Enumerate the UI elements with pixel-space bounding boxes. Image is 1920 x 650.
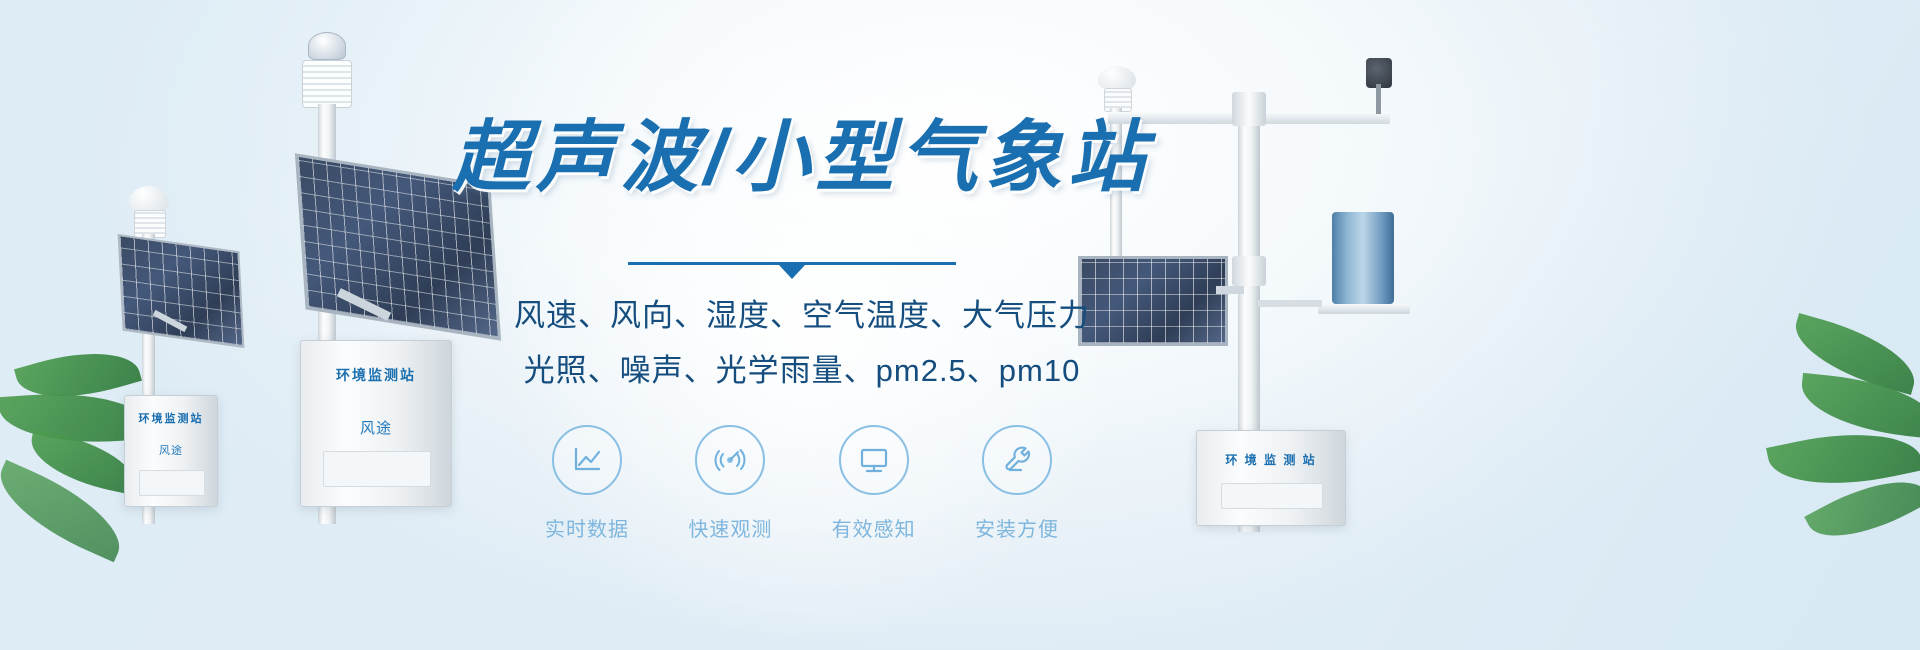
page-title: 超声波/小型气象站 <box>452 118 1132 196</box>
monitor-icon <box>857 443 891 477</box>
feature-icon-ring-4 <box>982 425 1052 495</box>
feature-item-effective-sensing[interactable]: 有效感知 <box>819 425 929 542</box>
feature-label-1: 实时数据 <box>545 513 629 542</box>
radar-wave-icon <box>713 443 747 477</box>
feature-icon-ring-1 <box>552 425 622 495</box>
feature-item-realtime-data[interactable]: 实时数据 <box>532 425 642 542</box>
feature-label-4: 安装方便 <box>975 513 1059 542</box>
feature-icon-ring-3 <box>839 425 909 495</box>
wrench-icon <box>1000 443 1034 477</box>
copy-block: 超声波/小型气象站 风速、风向、湿度、空气温度、大气压力 光照、噪声、光学雨量、… <box>0 0 1920 650</box>
subtitle-line-1: 风速、风向、湿度、空气温度、大气压力 <box>452 290 1152 335</box>
title-divider <box>628 262 956 265</box>
subtitle-line-2: 光照、噪声、光学雨量、pm2.5、pm10 <box>452 345 1152 390</box>
feature-icon-ring-2 <box>695 425 765 495</box>
feature-list: 实时数据 快速观测 <box>452 425 1152 565</box>
feature-label-2: 快速观测 <box>688 513 772 542</box>
feature-item-fast-observation[interactable]: 快速观测 <box>675 425 785 542</box>
feature-label-3: 有效感知 <box>832 513 916 542</box>
feature-item-easy-install[interactable]: 安装方便 <box>962 425 1072 542</box>
line-chart-icon <box>570 443 604 477</box>
product-banner: 环境监测站 风途 环境监测站 风途 环 境 监 测 站 <box>0 0 1920 650</box>
